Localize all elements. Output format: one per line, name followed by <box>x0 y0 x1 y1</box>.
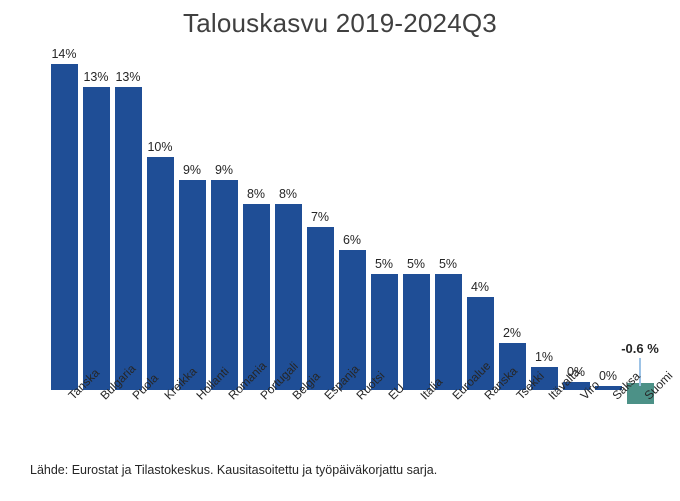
category-tick-kreikka: Kreikka <box>144 392 176 450</box>
bar-espanja[interactable]: 7% <box>304 30 336 392</box>
plot-area: 14%13%13%10%9%9%8%8%7%6%5%5%5%4%2%1%0%0%… <box>40 30 640 392</box>
bar-rect <box>115 87 142 390</box>
bar-value-label: -0.6 % <box>600 342 680 356</box>
category-tick-it-valta: Itävalta <box>528 392 560 450</box>
category-tick-puola: Puola <box>112 392 144 450</box>
category-tick-saksa: Saksa <box>592 392 624 450</box>
category-tick-ranska: Ranska <box>464 392 496 450</box>
category-tick-ruotsi: Ruotsi <box>336 392 368 450</box>
bar-romania[interactable]: 9% <box>208 30 240 392</box>
category-tick-romania: Romania <box>208 392 240 450</box>
source-note: Lähde: Eurostat ja Tilastokeskus. Kausit… <box>30 463 437 477</box>
bar-kreikka[interactable]: 10% <box>144 30 176 392</box>
category-tick-eu: EU <box>368 392 400 450</box>
bar-tsekki[interactable]: 2% <box>496 30 528 392</box>
bar-viro[interactable]: 0% <box>560 30 592 392</box>
bar-ruotsi[interactable]: 6% <box>336 30 368 392</box>
bar-saksa[interactable]: 0% <box>592 30 624 392</box>
bar-eu[interactable]: 5% <box>368 30 400 392</box>
category-tick-euroalue: Euroalue <box>432 392 464 450</box>
bar-bulgaria[interactable]: 13% <box>80 30 112 392</box>
bar-rect <box>179 180 206 390</box>
bar-suomi[interactable]: -0.6 % <box>624 30 656 392</box>
bar-tanska[interactable]: 14% <box>48 30 80 392</box>
bar-rect <box>51 64 78 390</box>
category-tick-tanska: Tanska <box>48 392 80 450</box>
bar-rect <box>403 274 430 391</box>
category-tick-suomi: Suomi <box>624 392 656 450</box>
chart-container: Talouskasvu 2019-2024Q3 14%13%13%10%9%9%… <box>0 0 680 501</box>
bar-rect <box>307 227 334 390</box>
category-tick-viro: Viro <box>560 392 592 450</box>
category-tick-bulgaria: Bulgaria <box>80 392 112 450</box>
bar-it-valta[interactable]: 1% <box>528 30 560 392</box>
category-tick-tsekki: Tsekki <box>496 392 528 450</box>
category-tick-espanja: Espanja <box>304 392 336 450</box>
bar-puola[interactable]: 13% <box>112 30 144 392</box>
bar-hollanti[interactable]: 9% <box>176 30 208 392</box>
bar-portugali[interactable]: 8% <box>240 30 272 392</box>
bar-italia[interactable]: 5% <box>400 30 432 392</box>
category-tick-portugali: Portugali <box>240 392 272 450</box>
bar-rect <box>211 180 238 390</box>
bar-rect <box>147 157 174 390</box>
bar-euroalue[interactable]: 5% <box>432 30 464 392</box>
category-tick-belgia: Belgia <box>272 392 304 450</box>
category-tick-italia: Italia <box>400 392 432 450</box>
bar-rect <box>83 87 110 390</box>
category-tick-hollanti: Hollanti <box>176 392 208 450</box>
category-axis: TanskaBulgariaPuolaKreikkaHollantiRomani… <box>40 392 640 450</box>
